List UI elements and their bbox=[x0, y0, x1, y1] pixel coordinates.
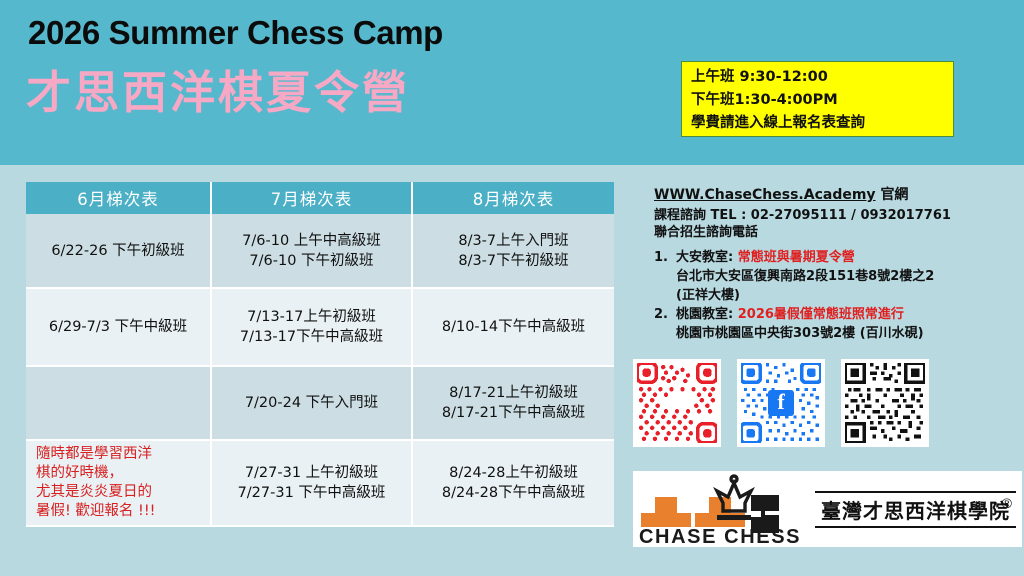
classroom-location-list: 1. 大安教室: 常態班與暑期夏令營 台北市大安區復興南路2段151巷8號2樓之… bbox=[654, 248, 1022, 343]
afternoon-class-time: 下午班1:30-4:00PM bbox=[691, 89, 945, 112]
google-forms-qr-icon[interactable] bbox=[841, 359, 929, 447]
cell-promo-note: 隨時都是學習西洋 棋的好時機， 尤其是炎炎夏日的 暑假! 歡迎報名 !!! bbox=[26, 440, 211, 526]
telephone-sublabel: 聯合招生諮詢電話 bbox=[654, 224, 1022, 241]
cell-august-week1: 8/3-7上午入門班 8/3-7下午初級班 bbox=[412, 214, 614, 288]
table-row: 7/20-24 下午入門班 8/17-21上午初級班 8/17-21下午中高級班 bbox=[26, 366, 614, 440]
line-qr-icon[interactable] bbox=[633, 359, 721, 447]
logo-mark-graphic: CHASE CHESS bbox=[633, 471, 805, 547]
list-item: 1. 大安教室: 常態班與暑期夏令營 台北市大安區復興南路2段151巷8號2樓之… bbox=[654, 248, 1022, 305]
column-header-july: 7月梯次表 bbox=[211, 182, 412, 214]
column-header-august: 8月梯次表 bbox=[412, 182, 614, 214]
table-row: 6/22-26 下午初級班 7/6-10 上午中高級班 7/6-10 下午初級班… bbox=[26, 214, 614, 288]
cell-august-week2: 8/10-14下午中高級班 bbox=[412, 288, 614, 366]
column-header-june: 6月梯次表 bbox=[26, 182, 211, 214]
location-name-taoyuan: 桃園教室: 2026暑假僅常態班照常進行 bbox=[676, 307, 904, 322]
logo-wordmark: CHASE CHESS bbox=[639, 526, 801, 547]
facebook-f-glyph: f bbox=[768, 390, 794, 416]
cell-june-week1: 6/22-26 下午初級班 bbox=[26, 214, 211, 288]
location-address: 台北市大安區復興南路2段151巷8號2樓之2 bbox=[676, 267, 1022, 286]
list-item: 2. 桃園教室: 2026暑假僅常態班照常進行 桃園市桃園區中央街303號2樓 … bbox=[654, 305, 1022, 343]
location-address: 桃園市桃園區中央街303號2樓 (百川水硯) bbox=[676, 324, 1022, 343]
cell-july-week4: 7/27-31 上午初級班 7/27-31 下午中高級班 bbox=[211, 440, 412, 526]
cell-june-week2: 6/29-7/3 下午中級班 bbox=[26, 288, 211, 366]
tuition-note: 學費請進入線上報名表查詢 bbox=[691, 112, 945, 135]
morning-class-time: 上午班 9:30-12:00 bbox=[691, 66, 945, 89]
website-line: WWW.ChaseChess.Academy 官網 bbox=[654, 184, 1022, 204]
cell-july-week3: 7/20-24 下午入門班 bbox=[211, 366, 412, 440]
location-number: 1. bbox=[654, 248, 676, 267]
cell-june-week3 bbox=[26, 366, 211, 440]
poster-root: 2026 Summer Chess Camp 才思西洋棋夏令營 上午班 9:30… bbox=[0, 0, 1024, 576]
location-name-daan: 大安教室: 常態班與暑期夏令營 bbox=[676, 250, 855, 265]
crown-icon bbox=[717, 476, 751, 511]
qr-code-row: f bbox=[633, 359, 929, 447]
cell-july-week2: 7/13-17上午初級班 7/13-17下午中高級班 bbox=[211, 288, 412, 366]
facebook-logo-icon: f bbox=[768, 390, 794, 416]
chase-chess-logo: CHASE CHESS 臺灣才思西洋棋學院 ® bbox=[633, 471, 1022, 547]
cell-august-week4: 8/24-28上午初級班 8/24-28下午中高級班 bbox=[412, 440, 614, 526]
class-times-box: 上午班 9:30-12:00 下午班1:30-4:00PM 學費請進入線上報名表… bbox=[681, 61, 954, 137]
page-title-chinese: 才思西洋棋夏令營 bbox=[26, 56, 410, 121]
cell-august-week3: 8/17-21上午初級班 8/17-21下午中高級班 bbox=[412, 366, 614, 440]
website-link[interactable]: WWW.ChaseChess.Academy bbox=[654, 187, 876, 203]
logo-chinese-name: 臺灣才思西洋棋學院 bbox=[815, 491, 1016, 528]
table-row: 隨時都是學習西洋 棋的好時機， 尤其是炎炎夏日的 暑假! 歡迎報名 !!! 7/… bbox=[26, 440, 614, 526]
telephone-line: 課程諮詢 TEL : 02-27095111 / 0932017761 bbox=[654, 207, 1022, 224]
location-address-building: (正祥大樓) bbox=[676, 286, 1022, 305]
location-highlight: 2026暑假僅常態班照常進行 bbox=[738, 307, 904, 322]
location-number: 2. bbox=[654, 305, 676, 324]
logo-chinese-name-wrap: 臺灣才思西洋棋學院 ® bbox=[805, 491, 1022, 528]
location-highlight: 常態班與暑期夏令營 bbox=[738, 250, 855, 265]
contact-info-block: WWW.ChaseChess.Academy 官網 課程諮詢 TEL : 02-… bbox=[654, 184, 1022, 343]
camp-schedule-table: 6月梯次表 7月梯次表 8月梯次表 6/22-26 下午初級班 7/6-10 上… bbox=[26, 182, 614, 527]
table-header-row: 6月梯次表 7月梯次表 8月梯次表 bbox=[26, 182, 614, 214]
registered-trademark-icon: ® bbox=[1002, 495, 1012, 511]
table-row: 6/29-7/3 下午中級班 7/13-17上午初級班 7/13-17下午中高級… bbox=[26, 288, 614, 366]
page-title-english: 2026 Summer Chess Camp bbox=[28, 14, 443, 52]
cell-july-week1: 7/6-10 上午中高級班 7/6-10 下午初級班 bbox=[211, 214, 412, 288]
facebook-qr-icon[interactable]: f bbox=[737, 359, 825, 447]
website-label: 官網 bbox=[880, 187, 908, 203]
